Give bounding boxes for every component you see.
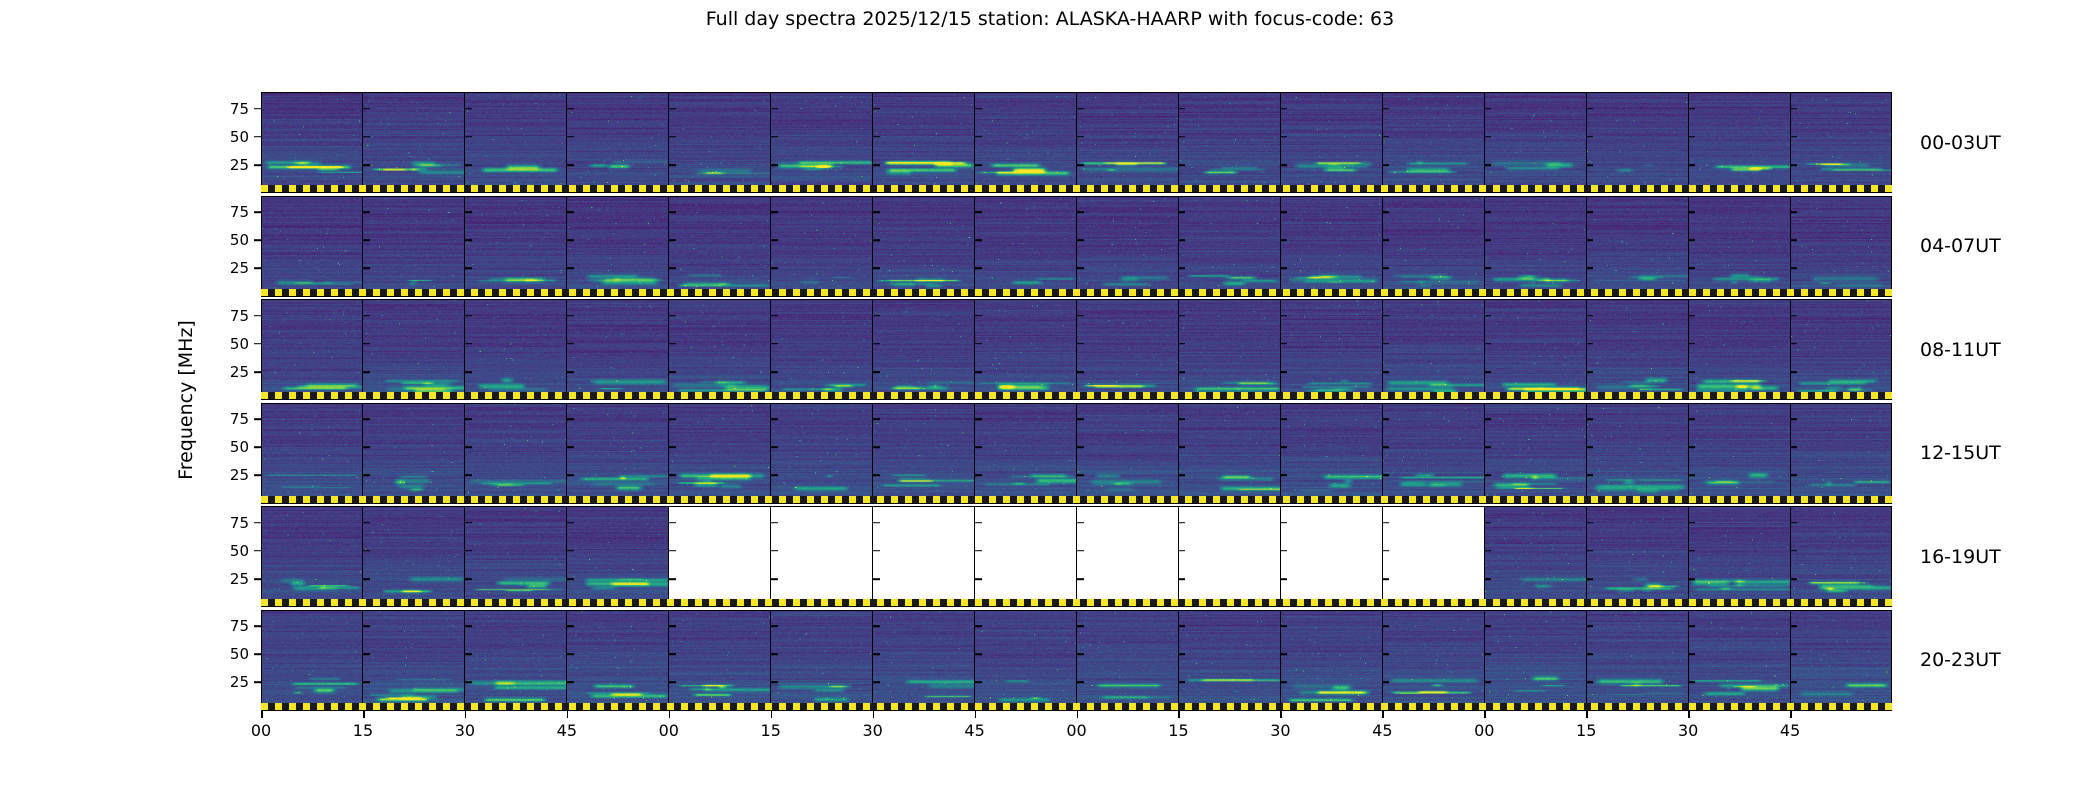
x-tick-mark [261,711,263,718]
spectrogram-cell[interactable] [770,196,872,297]
x-tick-label: 45 [1372,721,1392,740]
spectrogram-cell[interactable] [1280,299,1382,400]
spectrogram-image [1689,196,1790,297]
spectrogram-cell[interactable] [668,299,770,400]
spectrogram-cell[interactable] [872,610,974,711]
spectrogram-image [1587,92,1688,193]
y-tick-label: 25 [230,570,249,588]
spectrogram-image [669,403,770,504]
spectrogram-cell[interactable] [1484,610,1586,711]
spectrogram-cell[interactable] [1688,403,1790,504]
y-tick-mark [254,447,261,449]
x-tick-mark [1484,711,1486,718]
x-tick-mark [1688,711,1690,718]
spectrogram-cell[interactable] [1688,506,1790,607]
figure-title: Full day spectra 2025/12/15 station: ALA… [0,8,2100,30]
spectrogram-image [363,299,464,400]
spectrogram-row-cells [261,506,1892,607]
spectrogram-cell-empty[interactable] [1178,506,1280,607]
spectrogram-image [1485,299,1586,400]
spectrogram-image [1383,196,1484,297]
y-tick-label: 50 [230,335,249,353]
spectrogram-image [261,299,362,400]
spectrogram-cell[interactable] [464,92,566,193]
spectrogram-image [567,403,668,504]
spectrogram-image [465,506,566,607]
spectrogram-cell[interactable] [770,610,872,711]
spectrogram-image [363,610,464,711]
y-tick-label: 75 [230,410,249,428]
spectrogram-cell[interactable] [1790,92,1892,193]
x-tick-mark [1280,711,1282,718]
x-tick-label: 00 [1066,721,1086,740]
y-tick-mark [254,626,261,628]
x-tick-mark [873,711,875,718]
spectrogram-image [1383,610,1484,711]
spectrogram-cell[interactable] [362,299,464,400]
spectrogram-image [771,403,872,504]
spectrogram-cell[interactable] [974,196,1076,297]
spectrogram-cell[interactable] [668,92,770,193]
y-tick-label: 50 [230,438,249,456]
spectrogram-image [261,92,362,193]
spectrogram-image [567,196,668,297]
x-tick-label: 15 [1576,721,1596,740]
spectrogram-cell[interactable] [261,506,362,607]
y-tick-mark [254,343,261,345]
y-tick-label: 50 [230,231,249,249]
x-tick-mark [1077,711,1079,718]
spectrogram-cell[interactable] [1178,299,1280,400]
x-tick-mark [1178,711,1180,718]
spectrogram-image [1689,92,1790,193]
spectrogram-row-cells [261,92,1892,193]
spectrogram-cell[interactable] [1790,506,1892,607]
y-tick-mark [254,654,261,656]
spectrogram-cell[interactable] [1688,92,1790,193]
spectrogram-cell[interactable] [1484,506,1586,607]
spectrogram-cell[interactable] [872,92,974,193]
spectrogram-cell[interactable] [1076,299,1178,400]
x-tick-mark [669,711,671,718]
y-tick-mark [254,550,261,552]
row-time-label: 12-15UT [1920,442,2001,464]
spectrogram-cell[interactable] [362,196,464,297]
row-time-label: 16-19UT [1920,546,2001,568]
spectrogram-cell[interactable] [872,403,974,504]
spectrogram-image [1077,403,1178,504]
spectrogram-cell[interactable] [1790,610,1892,711]
spectrogram-image [1179,92,1280,193]
spectrogram-cell[interactable] [261,403,362,504]
y-tick-mark [254,136,261,138]
spectrogram-image [873,196,974,297]
spectrogram-cell[interactable] [1790,403,1892,504]
y-tick-mark [254,108,261,110]
x-tick-label: 15 [761,721,781,740]
spectrogram-image [975,196,1076,297]
spectrogram-image [1485,610,1586,711]
spectrogram-cell[interactable] [1280,610,1382,711]
y-tick-label: 75 [230,100,249,118]
spectrogram-row-cells [261,610,1892,711]
x-tick-label: 30 [1678,721,1698,740]
spectrogram-row[interactable] [261,299,1892,400]
spectrogram-image [1587,196,1688,297]
spectrogram-image [771,610,872,711]
spectrogram-image [1689,610,1790,711]
spectrogram-image [567,506,668,607]
spectrogram-image [1281,196,1382,297]
spectrogram-cell-empty[interactable] [668,506,770,607]
spectrogram-image [261,196,362,297]
spectrogram-cell[interactable] [770,299,872,400]
spectrogram-cell[interactable] [1178,403,1280,504]
spectrogram-image [1077,196,1178,297]
spectrogram-cell[interactable] [872,196,974,297]
spectrogram-image [1689,299,1790,400]
spectrogram-image [1791,506,1892,607]
spectrogram-cell[interactable] [974,299,1076,400]
x-tick-mark [465,711,467,718]
spectrogram-image [1587,506,1688,607]
spectrogram-cell[interactable] [1586,610,1688,711]
spectrogram-cell[interactable] [1586,92,1688,193]
x-tick-mark [771,711,773,718]
spectrogram-cell[interactable] [261,299,362,400]
spectrogram-image [1485,92,1586,193]
spectrogram-cell[interactable] [261,196,362,297]
spectrogram-cell[interactable] [1688,196,1790,297]
y-tick-label: 50 [230,542,249,560]
spectrogram-image [1383,92,1484,193]
x-tick-label: 45 [964,721,984,740]
x-tick-mark [975,711,977,718]
spectrogram-image [261,506,362,607]
y-tick-mark [254,682,261,684]
y-tick-mark [254,522,261,524]
spectrogram-row-cells [261,403,1892,504]
spectrogram-cell-empty[interactable] [872,506,974,607]
spectrogram-cell[interactable] [566,610,668,711]
spectrogram-cell-empty[interactable] [770,506,872,607]
spectrogram-cell[interactable] [1382,92,1484,193]
spectrogram-cell[interactable] [566,92,668,193]
spectrogram-image [873,299,974,400]
spectrogram-cell[interactable] [1484,299,1586,400]
y-tick-label: 25 [230,466,249,484]
spectrogram-cell[interactable] [362,403,464,504]
spectrogram-image [1587,403,1688,504]
y-tick-label: 25 [230,156,249,174]
spectrogram-image [975,92,1076,193]
spectrogram-image [1689,506,1790,607]
spectrogram-image [1383,299,1484,400]
spectrogram-image [1485,403,1586,504]
spectrogram-image [669,196,770,297]
spectrogram-image [1485,506,1586,607]
spectrogram-image [1587,610,1688,711]
x-tick-label: 00 [659,721,679,740]
spectrogram-image [363,92,464,193]
spectrogram-row[interactable] [261,196,1892,297]
spectrogram-image [1077,610,1178,711]
spectrogram-cell[interactable] [1586,506,1688,607]
spectrogram-image [669,92,770,193]
spectrogram-cell-empty[interactable] [974,506,1076,607]
spectrogram-cell[interactable] [464,403,566,504]
spectrogram-cell[interactable] [1484,92,1586,193]
x-tick-label: 30 [1270,721,1290,740]
spectrogram-image [261,403,362,504]
spectrogram-image [1689,403,1790,504]
spectrogram-image [1383,403,1484,504]
spectrogram-cell[interactable] [1484,403,1586,504]
spectrogram-cell[interactable] [1382,299,1484,400]
spectrogram-cell[interactable] [261,610,362,711]
spectrogram-image [1281,92,1382,193]
spectrogram-image [975,299,1076,400]
spectrogram-image [669,610,770,711]
spectrogram-image [465,403,566,504]
y-tick-mark [254,419,261,421]
spectrogram-image [363,506,464,607]
spectrogram-cell[interactable] [872,299,974,400]
x-tick-label: 30 [862,721,882,740]
spectrogram-image [975,403,1076,504]
spectrogram-cell[interactable] [362,506,464,607]
spectrogram-cell[interactable] [1178,610,1280,711]
spectrogram-cell[interactable] [1688,299,1790,400]
y-tick-mark [254,315,261,317]
spectrogram-cell[interactable] [668,403,770,504]
spectrogram-image [771,196,872,297]
y-tick-mark [254,475,261,477]
spectrogram-cell[interactable] [464,196,566,297]
spectrogram-image [669,299,770,400]
spectrogram-cell[interactable] [1178,196,1280,297]
spectrogram-cell[interactable] [1076,610,1178,711]
spectrogram-cell[interactable] [566,299,668,400]
x-tick-label: 15 [353,721,373,740]
y-tick-label: 75 [230,307,249,325]
spectrogram-image [1791,610,1892,711]
y-tick-label: 50 [230,645,249,663]
spectrogram-image [873,403,974,504]
spectrogram-image [975,610,1076,711]
spectrogram-cell[interactable] [464,299,566,400]
spectrogram-image [1791,196,1892,297]
spectrogram-image [261,610,362,711]
spectrogram-image [1077,92,1178,193]
spectrogram-image [873,92,974,193]
spectrogram-image [771,299,872,400]
spectrogram-image [873,610,974,711]
y-tick-label: 25 [230,259,249,277]
spectrogram-cell[interactable] [1586,403,1688,504]
spectrogram-row-cells [261,299,1892,400]
spectrogram-image [1281,610,1382,711]
spectrogram-image [567,299,668,400]
spectrogram-cell[interactable] [261,92,362,193]
y-tick-label: 75 [230,617,249,635]
x-tick-label: 00 [1474,721,1494,740]
row-time-label: 04-07UT [1920,235,2001,257]
spectrogram-cell[interactable] [1280,196,1382,297]
spectrogram-cell[interactable] [974,92,1076,193]
spectrogram-image [771,92,872,193]
spectrogram-image [363,196,464,297]
y-tick-label: 50 [230,128,249,146]
y-tick-label: 75 [230,514,249,532]
y-tick-label: 25 [230,363,249,381]
spectrogram-cell[interactable] [464,610,566,711]
spectrogram-cell[interactable] [974,610,1076,711]
spectrogram-cell[interactable] [1382,196,1484,297]
spectrogram-cell[interactable] [1076,196,1178,297]
spectrogram-image [1791,403,1892,504]
spectrogram-cell[interactable] [1484,196,1586,297]
y-tick-mark [254,212,261,214]
row-time-label: 20-23UT [1920,649,2001,671]
spectrogram-cell[interactable] [668,610,770,711]
spectrogram-row[interactable] [261,403,1892,504]
x-tick-label: 00 [251,721,271,740]
spectrogram-row[interactable] [261,92,1892,193]
spectrogram-image [1179,610,1280,711]
spectrogram-cell[interactable] [1586,196,1688,297]
spectrogram-cell-empty[interactable] [1382,506,1484,607]
spectrogram-image [465,299,566,400]
spectrogram-image [465,610,566,711]
spectrogram-image [1485,196,1586,297]
x-tick-mark [1382,711,1384,718]
spectrogram-image [1077,299,1178,400]
spectrogram-cell[interactable] [566,196,668,297]
spectrogram-cell[interactable] [464,506,566,607]
spectrogram-cell[interactable] [1586,299,1688,400]
spectrogram-image [465,92,566,193]
spectrogram-image [363,403,464,504]
y-tick-mark [254,164,261,166]
spectrogram-image [567,610,668,711]
spectrogram-cell[interactable] [1382,403,1484,504]
spectrogram-cell[interactable] [1076,403,1178,504]
spectrogram-image [1281,299,1382,400]
spectrogram-cell[interactable] [1178,92,1280,193]
y-tick-mark [254,578,261,580]
x-tick-mark [363,711,365,718]
spectrogram-cell[interactable] [1280,92,1382,193]
x-tick-label: 45 [1780,721,1800,740]
row-time-label: 00-03UT [1920,132,2001,154]
spectrogram-cell[interactable] [1076,92,1178,193]
spectrogram-cell[interactable] [1382,610,1484,711]
spectrogram-row[interactable] [261,506,1892,607]
spectrogram-image [1179,196,1280,297]
spectrogram-image [1791,92,1892,193]
y-tick-mark [254,268,261,270]
x-tick-label: 45 [557,721,577,740]
spectrogram-cell[interactable] [770,92,872,193]
spectrogram-cell[interactable] [1280,403,1382,504]
spectrogram-row[interactable] [261,610,1892,711]
y-tick-mark [254,240,261,242]
y-tick-label: 75 [230,203,249,221]
spectrogram-cell-empty[interactable] [1280,506,1382,607]
spectrogram-figure: Full day spectra 2025/12/15 station: ALA… [0,0,2100,800]
spectrogram-image [567,92,668,193]
spectrogram-cell[interactable] [770,403,872,504]
y-tick-mark [254,371,261,373]
x-tick-mark [567,711,569,718]
spectrogram-image [1281,403,1382,504]
spectrogram-image [465,196,566,297]
spectrogram-cell[interactable] [362,610,464,711]
spectrogram-image [1179,299,1280,400]
y-axis-label: Frequency [MHz] [175,320,197,480]
spectrogram-cell[interactable] [1790,196,1892,297]
spectrogram-cell[interactable] [1790,299,1892,400]
x-tick-mark [1586,711,1588,718]
spectrogram-image [1179,403,1280,504]
spectrogram-cell[interactable] [668,196,770,297]
spectrogram-cell[interactable] [566,403,668,504]
spectrogram-row-cells [261,196,1892,297]
spectrogram-image [1791,299,1892,400]
x-tick-label: 30 [455,721,475,740]
row-time-label: 08-11UT [1920,339,2001,361]
spectrogram-cell-empty[interactable] [1076,506,1178,607]
x-tick-label: 15 [1168,721,1188,740]
spectrogram-cell[interactable] [974,403,1076,504]
x-tick-mark [1790,711,1792,718]
spectrogram-cell[interactable] [362,92,464,193]
spectrogram-cell[interactable] [566,506,668,607]
spectrogram-image [1587,299,1688,400]
y-tick-label: 25 [230,673,249,691]
spectrogram-cell[interactable] [1688,610,1790,711]
